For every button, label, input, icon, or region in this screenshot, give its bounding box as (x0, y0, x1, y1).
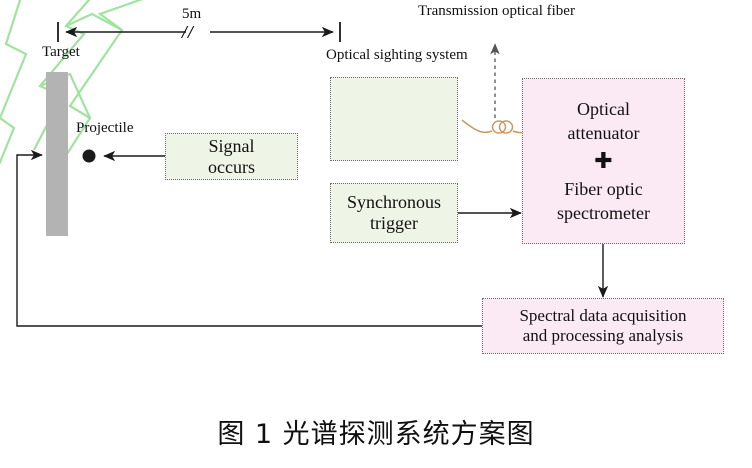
label-distance: 5m (182, 6, 201, 23)
signal-occurs-line2: occurs (208, 157, 255, 178)
box-signal-occurs[interactable]: Signal occurs (165, 133, 298, 180)
spectral-data-line1: Spectral data acquisition (519, 306, 686, 326)
box-spectral-data[interactable]: Spectral data acquisition and processing… (482, 298, 724, 354)
spectrometer-line4: spectrometer (557, 203, 650, 224)
spectrometer-line3: Fiber optic (564, 179, 643, 200)
box-optical-sighting-system[interactable] (330, 77, 458, 161)
figure-canvas: Signal occurs Synchronous trigger Optica… (0, 0, 752, 468)
plus-icon: ✚ (594, 149, 612, 174)
synchronous-trigger-line2: trigger (370, 213, 418, 234)
label-transmission-optical-fiber: Transmission optical fiber (418, 3, 575, 20)
projectile-dot (83, 150, 96, 163)
label-break-mark: // (182, 22, 194, 43)
box-spectrometer[interactable]: Optical attenuator ✚ Fiber optic spectro… (522, 78, 685, 244)
box-synchronous-trigger[interactable]: Synchronous trigger (330, 183, 458, 243)
spectral-data-line2: and processing analysis (523, 326, 684, 346)
signal-occurs-line1: Signal (208, 136, 254, 157)
spectrometer-line2: attenuator (568, 123, 640, 144)
target-bar (46, 72, 68, 236)
label-optical-sighting-system: Optical sighting system (326, 47, 468, 64)
muzzle-flash-decoration (0, 0, 168, 172)
label-target: Target (42, 44, 80, 61)
figure-caption: 图 1 光谱探测系统方案图 (0, 412, 752, 451)
label-projectile: Projectile (76, 120, 133, 137)
synchronous-trigger-line1: Synchronous (347, 192, 441, 213)
spectrometer-line1: Optical (577, 99, 630, 120)
